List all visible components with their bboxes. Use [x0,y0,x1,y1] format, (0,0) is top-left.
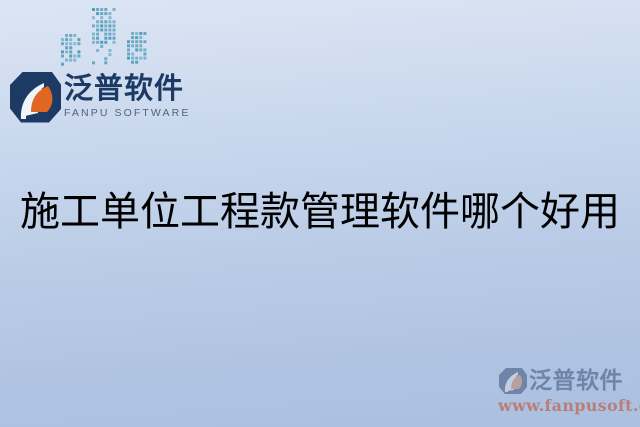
brand-name-cn: 泛普软件 [64,73,190,103]
brand-name-en: FANPU SOFTWARE [64,106,190,121]
pixel-skyline-svg [57,2,153,76]
brand-logo: 泛普软件 FANPU SOFTWARE [8,66,176,128]
watermark-url: www.fanpusoft.com [498,397,634,415]
page-title: 施工单位工程款管理软件哪个好用 [0,184,640,240]
fanpu-logo-mark-icon [8,69,62,125]
poster-canvas: 泛普软件 FANPU SOFTWARE 施工单位工程款管理软件哪个好用 泛普软件… [0,0,640,427]
watermark-name-cn: 泛普软件 [529,370,623,393]
watermark-logo-row: 泛普软件 [498,366,634,396]
fanpu-watermark-mark-icon [498,367,528,395]
brand-text-block: 泛普软件 FANPU SOFTWARE [64,73,190,121]
watermark: 泛普软件 www.fanpusoft.com [498,366,634,420]
pixel-skyline-graphic [57,2,153,76]
